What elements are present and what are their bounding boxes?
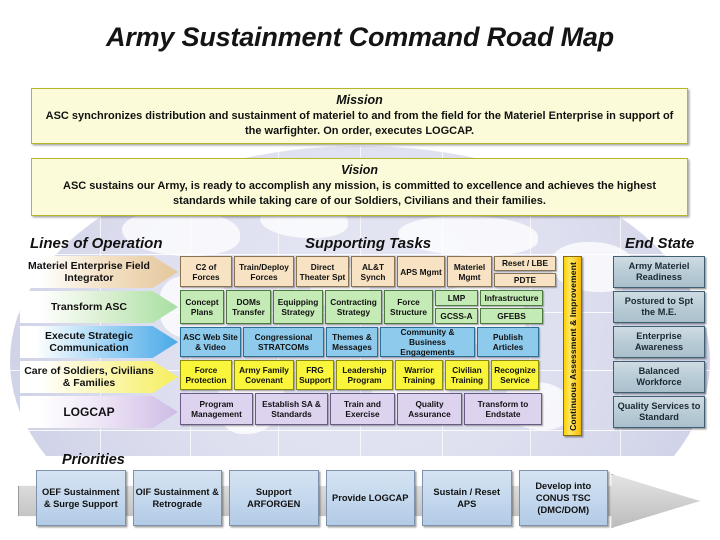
line-of-operation-label: Transform ASC bbox=[20, 301, 158, 314]
supporting-task-cell[interactable]: AL&T Synch bbox=[351, 256, 395, 287]
vision-body: ASC sustains our Army, is ready to accom… bbox=[40, 179, 679, 208]
priorities-heading: Priorities bbox=[62, 452, 125, 468]
supporting-task-cell[interactable]: Materiel Mgmt bbox=[447, 256, 492, 287]
lines-of-operation-column: Materiel Enterprise Field IntegratorTran… bbox=[20, 256, 178, 431]
line-of-operation-item[interactable]: Care of Soldiers, Civilians & Families bbox=[20, 361, 178, 393]
supporting-task-cell[interactable]: PDTE bbox=[494, 273, 556, 288]
supporting-task-cell[interactable]: ASC Web Site & Video bbox=[180, 327, 241, 357]
line-of-operation-label: Materiel Enterprise Field Integrator bbox=[20, 260, 158, 285]
line-of-operation-label: LOGCAP bbox=[20, 406, 158, 419]
lines-of-operation-heading: Lines of Operation bbox=[30, 235, 163, 252]
line-of-operation-item[interactable]: LOGCAP bbox=[20, 396, 178, 428]
supporting-task-cell[interactable]: Transform to Endstate bbox=[464, 393, 542, 425]
line-of-operation-label: Execute Strategic Communication bbox=[20, 330, 158, 355]
mission-box: Mission ASC synchronizes distribution an… bbox=[31, 88, 688, 144]
supporting-tasks-row: Force ProtectionArmy Family CovenantFRG … bbox=[180, 360, 558, 390]
supporting-task-cell[interactable]: Direct Theater Spt bbox=[296, 256, 349, 287]
end-state-item[interactable]: Army Materiel Readiness bbox=[613, 256, 705, 288]
supporting-task-stack: Reset / LBEPDTE bbox=[494, 256, 556, 287]
supporting-task-cell[interactable]: Contracting Strategy bbox=[325, 290, 382, 324]
mission-body: ASC synchronizes distribution and sustai… bbox=[40, 109, 679, 138]
end-state-heading: End State bbox=[625, 235, 694, 252]
supporting-task-cell[interactable]: Civilian Training bbox=[445, 360, 489, 390]
priority-item[interactable]: OIF Sustainment & Retrograde bbox=[133, 470, 223, 526]
end-state-item[interactable]: Postured to Spt the M.E. bbox=[613, 291, 705, 323]
supporting-task-cell[interactable]: Concept Plans bbox=[180, 290, 224, 324]
priority-item[interactable]: Sustain / Reset APS bbox=[422, 470, 512, 526]
supporting-task-cell[interactable]: Reset / LBE bbox=[494, 256, 556, 271]
supporting-tasks-heading: Supporting Tasks bbox=[305, 235, 431, 252]
supporting-task-cell[interactable]: Train/Deploy Forces bbox=[234, 256, 294, 287]
supporting-task-cell[interactable]: Infrastructure bbox=[480, 290, 543, 306]
supporting-task-stack: LMPGCSS-A bbox=[435, 290, 478, 324]
line-of-operation-label: Care of Soldiers, Civilians & Families bbox=[20, 365, 158, 390]
supporting-task-cell[interactable]: Program Management bbox=[180, 393, 253, 425]
line-of-operation-item[interactable]: Transform ASC bbox=[20, 291, 178, 323]
supporting-task-cell[interactable]: Equipping Strategy bbox=[273, 290, 323, 324]
supporting-task-cell[interactable]: FRG Support bbox=[296, 360, 334, 390]
end-state-item[interactable]: Balanced Workforce bbox=[613, 361, 705, 393]
supporting-task-cell[interactable]: Publish Articles bbox=[477, 327, 539, 357]
continuous-assessment-label: Continuous Assessment & Improvement bbox=[568, 262, 578, 431]
line-of-operation-item[interactable]: Materiel Enterprise Field Integrator bbox=[20, 256, 178, 288]
supporting-task-cell[interactable]: Force Structure bbox=[384, 290, 433, 324]
supporting-task-stack: InfrastructureGFEBS bbox=[480, 290, 543, 324]
supporting-task-cell[interactable]: LMP bbox=[435, 290, 478, 306]
priorities-row: OEF Sustainment & Surge SupportOIF Susta… bbox=[36, 470, 608, 526]
priority-item[interactable]: Provide LOGCAP bbox=[326, 470, 416, 526]
supporting-task-cell[interactable]: Train and Exercise bbox=[330, 393, 395, 425]
supporting-tasks-row: C2 of ForcesTrain/Deploy ForcesDirect Th… bbox=[180, 256, 558, 287]
supporting-tasks-row: ASC Web Site & VideoCongressional STRATC… bbox=[180, 327, 558, 357]
vision-heading: Vision bbox=[40, 163, 679, 178]
supporting-task-cell[interactable]: GFEBS bbox=[480, 308, 543, 324]
supporting-task-cell[interactable]: Themes & Messages bbox=[326, 327, 378, 357]
supporting-task-cell[interactable]: Recognize Service bbox=[491, 360, 539, 390]
end-state-item[interactable]: Enterprise Awareness bbox=[613, 326, 705, 358]
supporting-task-cell[interactable]: Warrior Training bbox=[395, 360, 443, 390]
road-map-page: Army Sustainment Command Road Map Missio… bbox=[0, 0, 720, 540]
priority-item[interactable]: Develop into CONUS TSC (DMC/DOM) bbox=[519, 470, 609, 526]
end-state-item[interactable]: Quality Services to Standard bbox=[613, 396, 705, 428]
supporting-tasks-row: Concept PlansDOMs TransferEquipping Stra… bbox=[180, 290, 558, 324]
supporting-task-cell[interactable]: GCSS-A bbox=[435, 308, 478, 324]
supporting-tasks-row: Program ManagementEstablish SA & Standar… bbox=[180, 393, 558, 425]
supporting-task-cell[interactable]: Army Family Covenant bbox=[234, 360, 294, 390]
supporting-task-cell[interactable]: Establish SA & Standards bbox=[255, 393, 328, 425]
vision-box: Vision ASC sustains our Army, is ready t… bbox=[31, 158, 688, 216]
supporting-task-cell[interactable]: Community & Business Engagements bbox=[380, 327, 475, 357]
supporting-task-cell[interactable]: Quality Assurance bbox=[397, 393, 462, 425]
supporting-task-cell[interactable]: Congressional STRATCOMs bbox=[243, 327, 324, 357]
supporting-task-cell[interactable]: C2 of Forces bbox=[180, 256, 232, 287]
continuous-assessment-bar: Continuous Assessment & Improvement bbox=[563, 256, 582, 436]
end-state-column: Army Materiel ReadinessPostured to Spt t… bbox=[613, 256, 705, 431]
supporting-task-cell[interactable]: APS Mgmt bbox=[397, 256, 445, 287]
supporting-task-cell[interactable]: Force Protection bbox=[180, 360, 232, 390]
line-of-operation-item[interactable]: Execute Strategic Communication bbox=[20, 326, 178, 358]
page-title: Army Sustainment Command Road Map bbox=[0, 22, 720, 53]
supporting-task-cell[interactable]: Leadership Program bbox=[336, 360, 393, 390]
priority-item[interactable]: Support ARFORGEN bbox=[229, 470, 319, 526]
supporting-tasks-grid: C2 of ForcesTrain/Deploy ForcesDirect Th… bbox=[180, 256, 558, 428]
priority-item[interactable]: OEF Sustainment & Surge Support bbox=[36, 470, 126, 526]
mission-heading: Mission bbox=[40, 93, 679, 108]
supporting-task-cell[interactable]: DOMs Transfer bbox=[226, 290, 271, 324]
